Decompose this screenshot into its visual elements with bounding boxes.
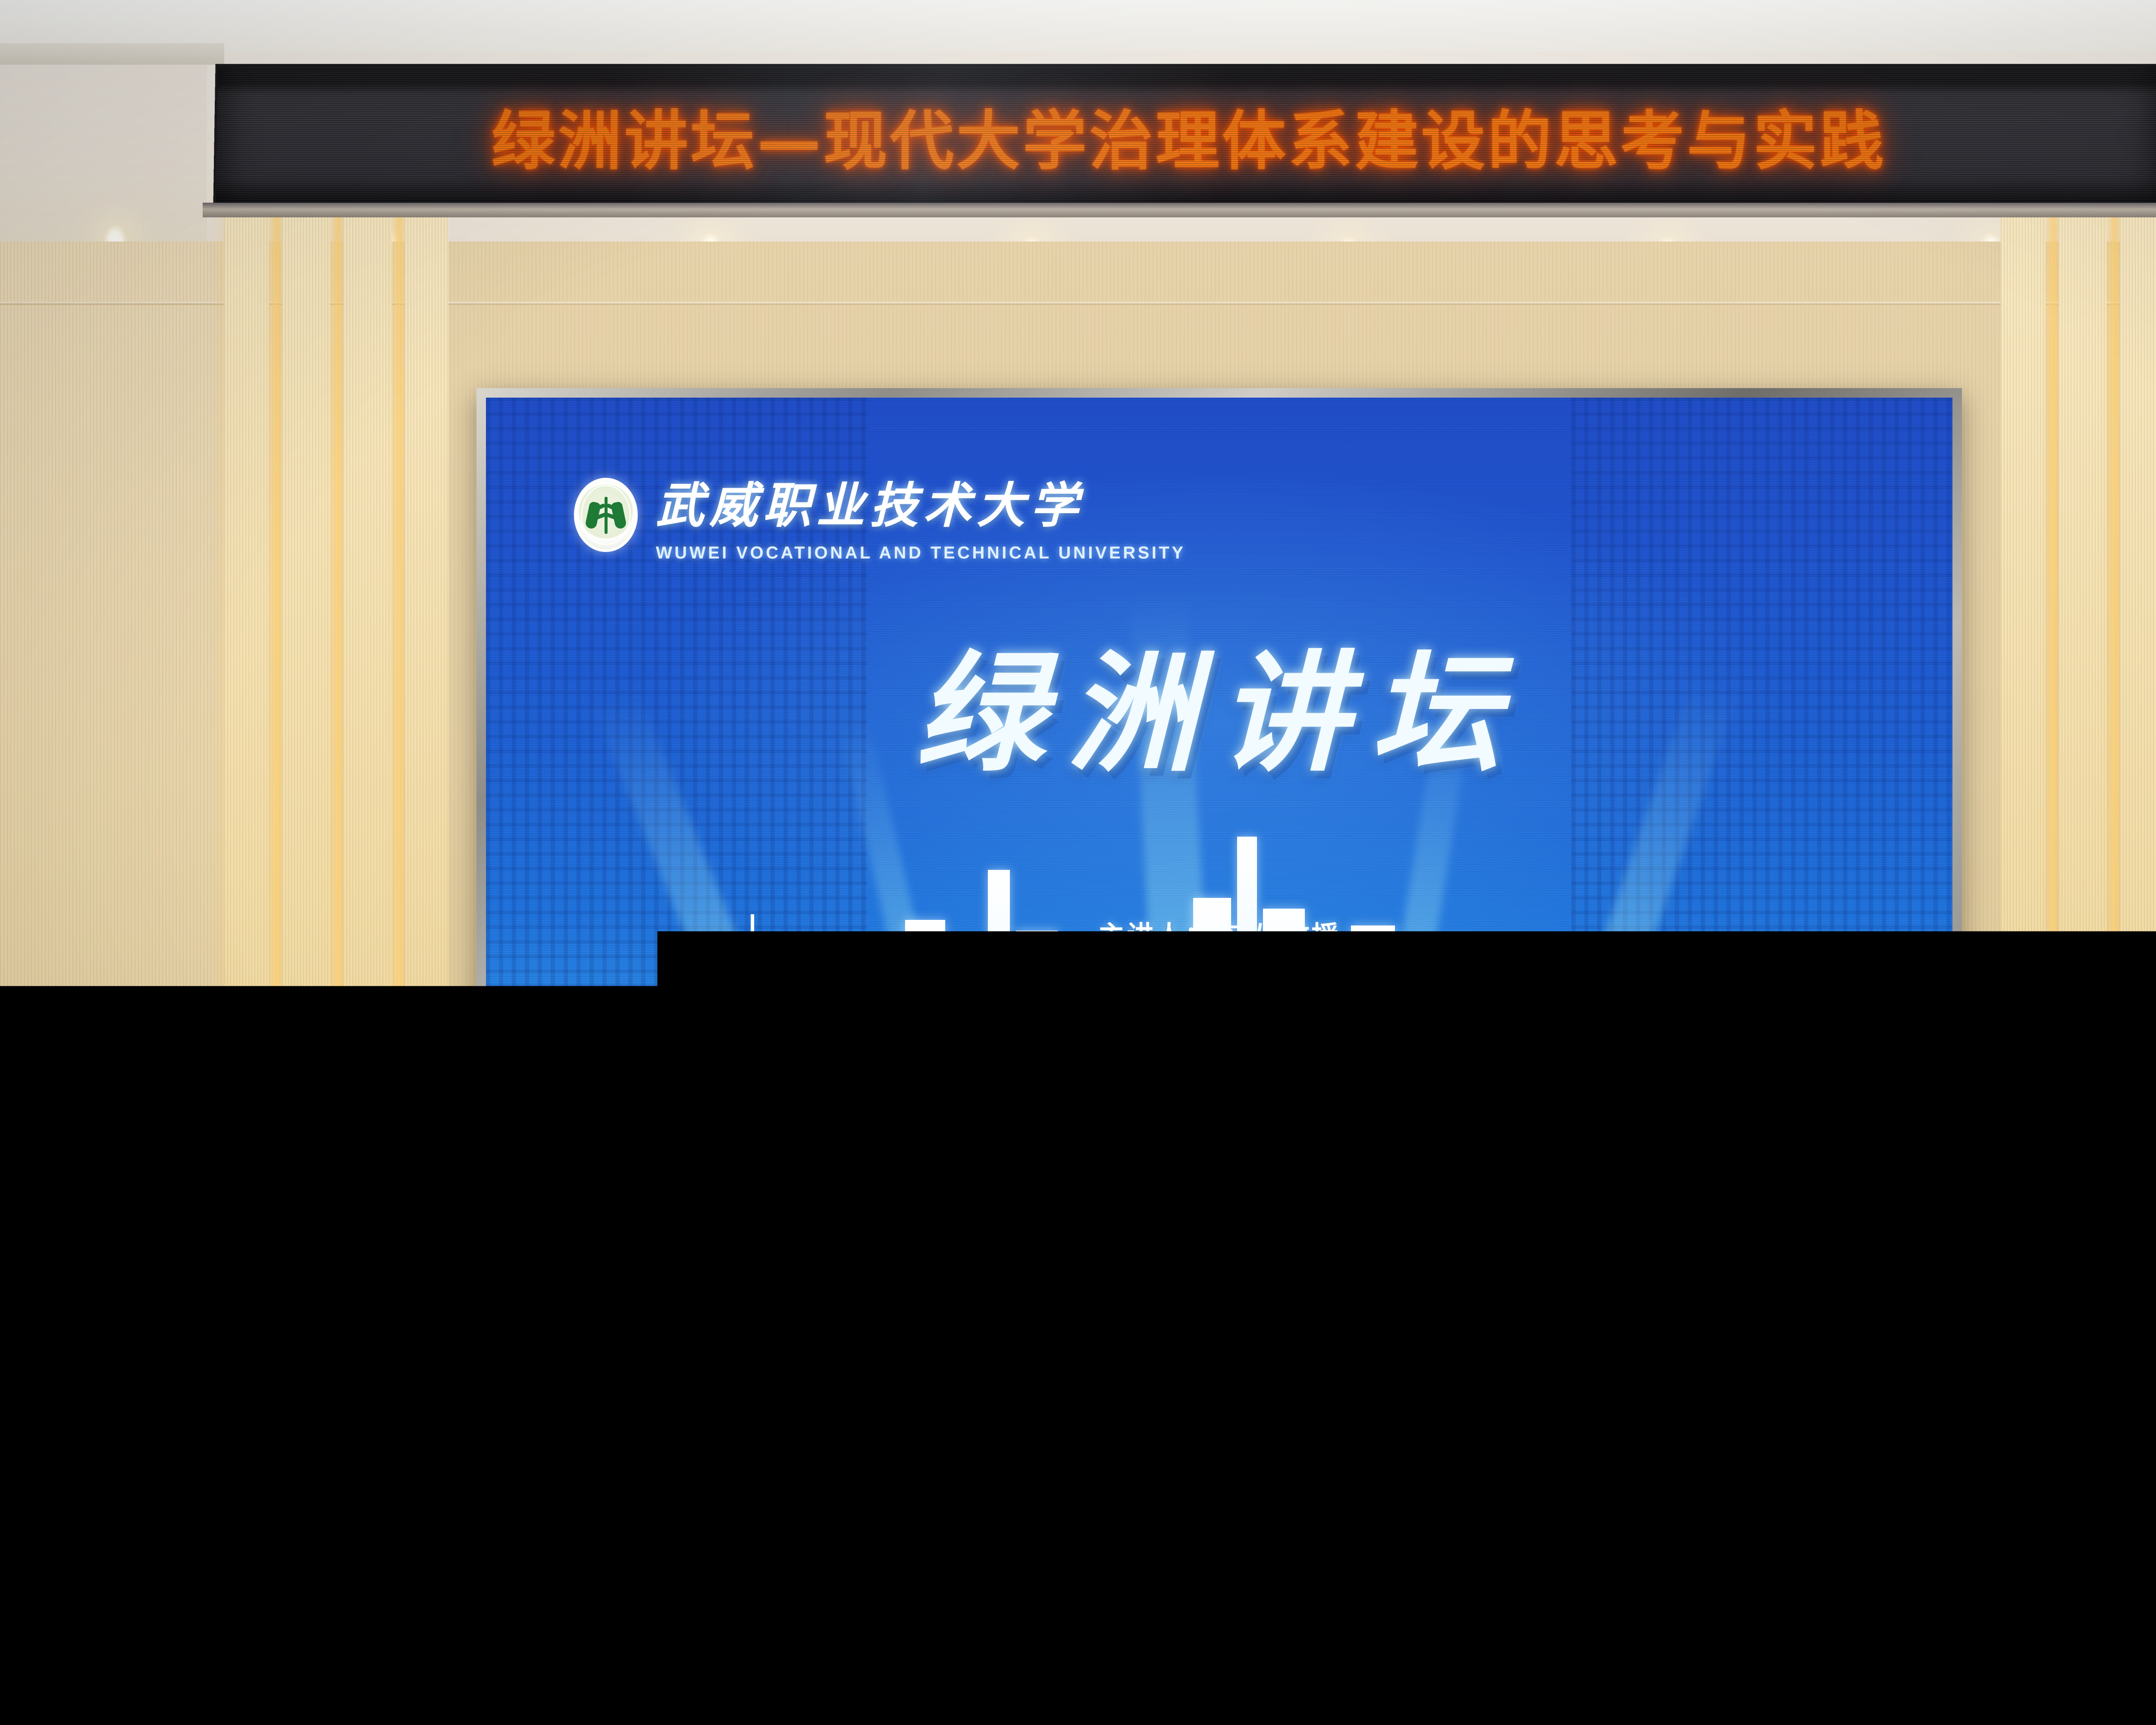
audience-member	[1035, 1514, 1145, 1628]
microphone	[639, 1160, 642, 1233]
head	[1345, 1578, 1496, 1725]
audience-member	[1250, 1514, 1360, 1628]
head	[2109, 1509, 2156, 1628]
island-texture	[1265, 1111, 1429, 1172]
audience-seat	[440, 1673, 673, 1725]
nameplate-left: 陈 弘	[547, 1226, 616, 1252]
head	[1035, 1514, 1145, 1632]
window-curtain	[0, 994, 58, 1460]
wall-fin	[282, 203, 330, 1402]
presenter-hair	[1747, 1141, 1808, 1174]
stage-step	[224, 1423, 487, 1453]
presenter-glasses-icon	[621, 1176, 667, 1177]
university-emblem-icon	[574, 478, 638, 552]
audience-seat	[983, 1673, 1216, 1725]
wall-fin	[2120, 203, 2156, 1402]
university-logo-lockup: 武威职业技术大学 WUWEI VOCATIONAL AND TECHNICAL …	[574, 467, 1185, 563]
head	[509, 1518, 614, 1634]
audience-member	[328, 1587, 474, 1725]
paper-cup	[486, 1197, 514, 1239]
microphone	[1737, 1160, 1740, 1233]
fin-glow	[269, 203, 282, 1402]
table-panel	[752, 1242, 1065, 1423]
audience-seat	[1966, 1673, 2156, 1725]
table-panel	[1378, 1242, 1690, 1423]
island-texture	[1474, 1120, 1601, 1172]
island-texture	[1056, 1101, 1183, 1170]
university-name-en: WUWEI VOCATIONAL AND TECHNICAL UNIVERSIT…	[656, 543, 1185, 563]
seat-piping	[1976, 1705, 2156, 1725]
island-texture	[837, 1114, 983, 1173]
led-screen-bezel: 武威职业技术大学 WUWEI VOCATIONAL AND TECHNICAL …	[476, 388, 1962, 1220]
head	[811, 1419, 875, 1486]
head	[1250, 1514, 1360, 1632]
wall-fin	[343, 203, 392, 1402]
audience-member	[1725, 1570, 1880, 1725]
led-sheen	[213, 64, 2156, 206]
head	[1718, 1386, 1792, 1462]
forum-title: 绿洲讲坛	[486, 609, 1952, 796]
presenter-hair	[615, 1139, 674, 1173]
audience-member	[742, 1570, 897, 1725]
audience-member	[509, 1518, 614, 1628]
fin-glow	[2046, 203, 2059, 1402]
tree-icon	[590, 494, 622, 536]
audience-member	[1718, 1386, 1792, 1458]
banner-rail	[203, 203, 2156, 217]
seat-piping	[1510, 1705, 1724, 1725]
head	[1574, 1509, 1684, 1629]
audience-member	[1574, 1509, 1684, 1626]
head	[328, 1587, 474, 1725]
ceiling-edge-strip	[0, 0, 2156, 52]
wall-fin	[2059, 203, 2107, 1402]
ceiling-beam-left	[0, 43, 224, 65]
audience-seat	[1501, 1673, 1733, 1725]
wall-fin	[224, 203, 269, 1402]
audience-member	[811, 1419, 875, 1483]
light-column-group-right	[2001, 203, 2156, 1402]
university-name-cn: 武威职业技术大学	[656, 467, 1185, 536]
audience-member	[0, 1591, 147, 1725]
nameplate-right: 伍国强	[1776, 1220, 1856, 1250]
seat-piping	[449, 1705, 664, 1725]
paper-cup	[1648, 1201, 1676, 1243]
head	[742, 1570, 897, 1725]
fin-glow	[2107, 203, 2120, 1402]
curtain-rod	[0, 988, 91, 994]
led-screen: 武威职业技术大学 WUWEI VOCATIONAL AND TECHNICAL …	[486, 398, 1952, 1211]
university-name-block: 武威职业技术大学 WUWEI VOCATIONAL AND TECHNICAL …	[656, 467, 1185, 563]
head	[1725, 1570, 1880, 1725]
audience-member	[2109, 1509, 2156, 1625]
led-banner: 绿洲讲坛—现代大学治理体系建设的思考与实践	[213, 64, 2156, 206]
head	[0, 1591, 147, 1725]
fin-glow	[392, 203, 404, 1402]
microphone-base	[617, 1227, 665, 1242]
table-panel	[1065, 1242, 1378, 1423]
seat-piping	[993, 1705, 1207, 1725]
presenter-glasses-icon	[1754, 1178, 1802, 1180]
lecture-hall-scene: 绿洲讲坛—现代大学治理体系建设的思考与实践	[0, 0, 2156, 1725]
wall-fin	[2001, 203, 2046, 1402]
fin-glow	[330, 203, 343, 1402]
light-column-group-left	[224, 203, 448, 1402]
audience-member	[1345, 1578, 1496, 1725]
microphone-base	[1715, 1227, 1763, 1242]
